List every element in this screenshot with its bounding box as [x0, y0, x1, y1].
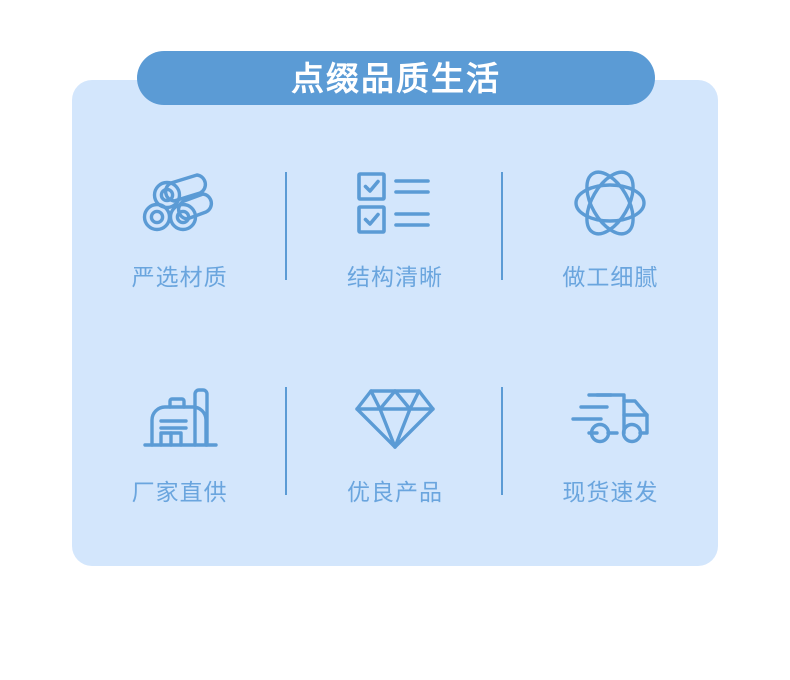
- feature-label: 厂家直供: [132, 481, 228, 504]
- feature-label: 做工细腻: [562, 266, 658, 289]
- stacked-pipes-icon: [132, 162, 228, 244]
- feature-item-shipping[interactable]: 现货速发: [503, 333, 718, 548]
- atom-icon: [562, 162, 658, 244]
- factory-icon: [132, 377, 228, 459]
- page-title: 点缀品质生活: [291, 62, 501, 95]
- feature-label: 结构清晰: [347, 266, 443, 289]
- promo-banner-page: 点缀品质生活: [0, 0, 790, 680]
- feature-label: 优良产品: [347, 481, 443, 504]
- diamond-icon: [347, 377, 443, 459]
- feature-item-factory[interactable]: 厂家直供: [72, 333, 287, 548]
- feature-label: 严选材质: [132, 266, 228, 289]
- feature-item-material[interactable]: 严选材质: [72, 118, 287, 333]
- feature-item-craftsmanship[interactable]: 做工细腻: [503, 118, 718, 333]
- checklist-icon: [347, 162, 443, 244]
- delivery-truck-icon: [562, 377, 658, 459]
- feature-item-structure[interactable]: 结构清晰: [287, 118, 502, 333]
- feature-label: 现货速发: [562, 481, 658, 504]
- feature-grid: 严选材质 结构清晰: [72, 118, 718, 548]
- title-banner: 点缀品质生活: [137, 51, 655, 105]
- feature-item-quality[interactable]: 优良产品: [287, 333, 502, 548]
